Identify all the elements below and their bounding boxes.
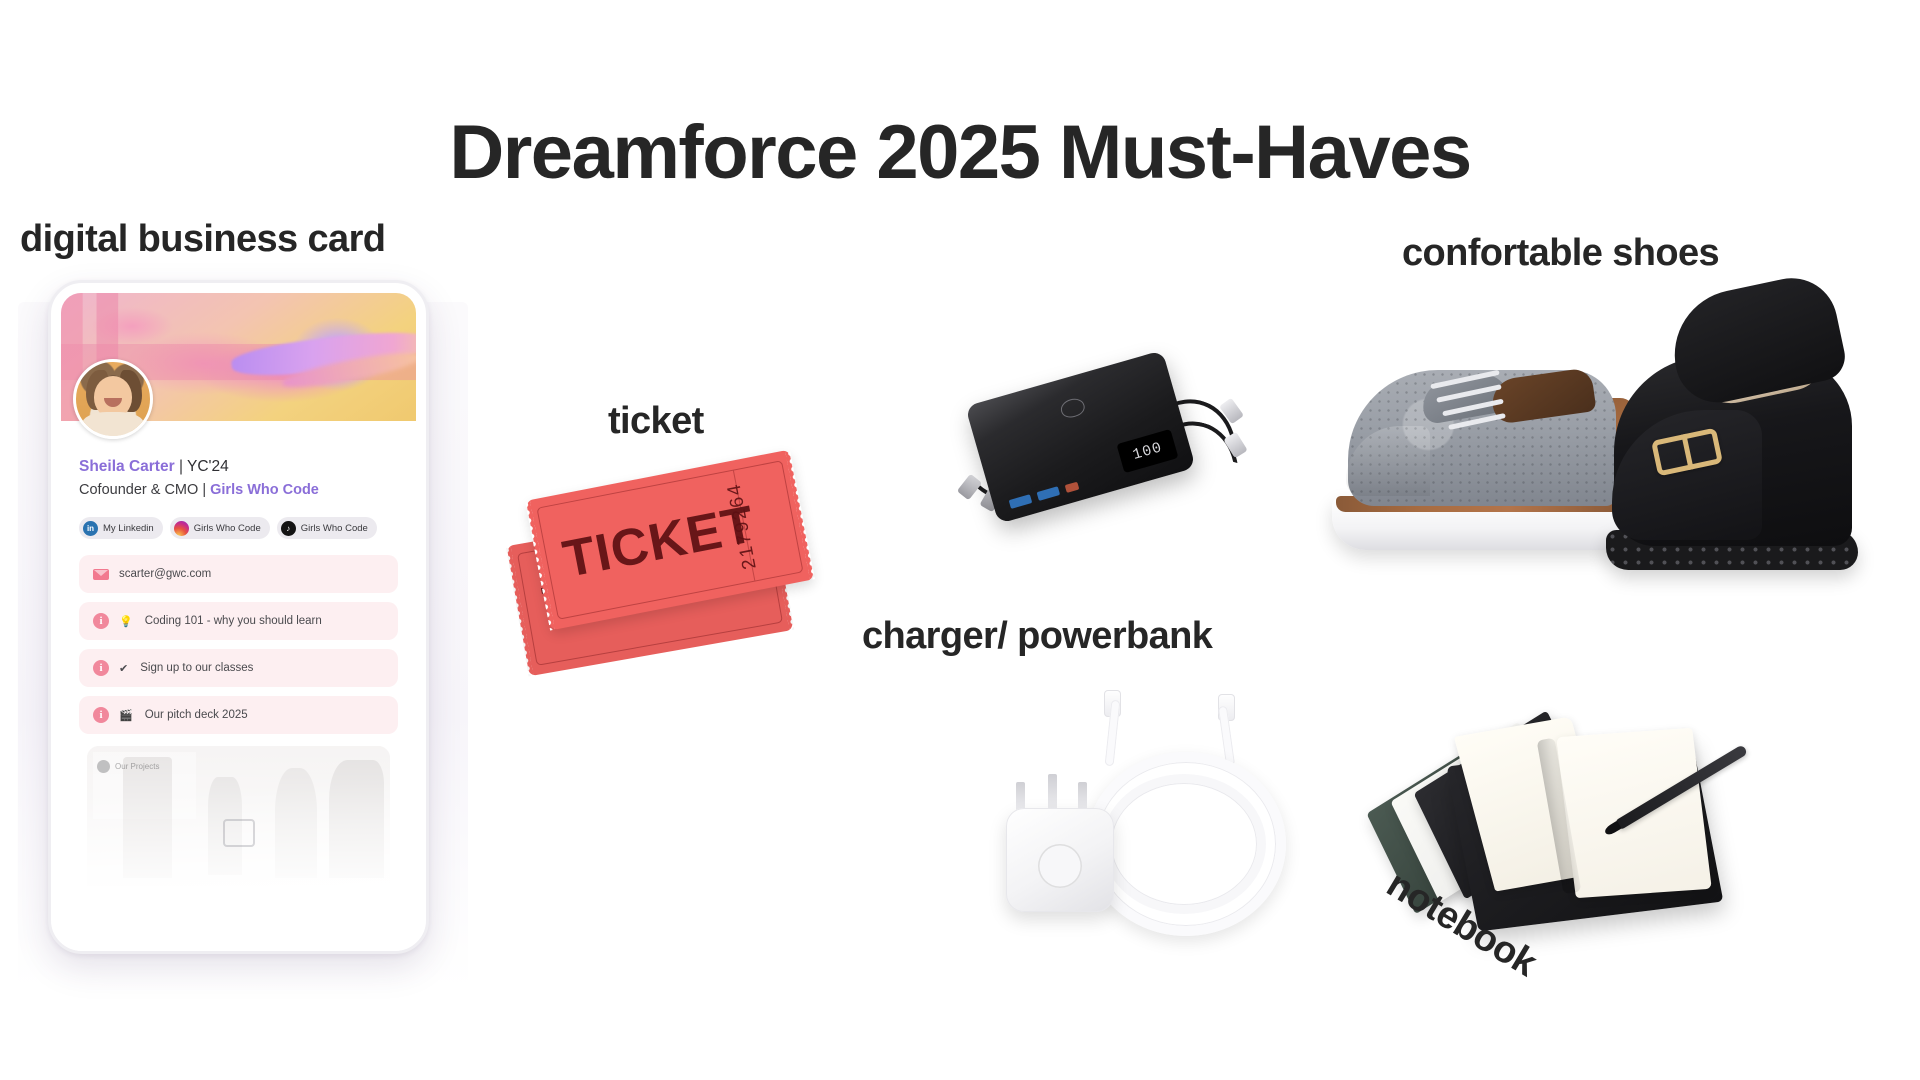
wall-plug-body — [1006, 808, 1114, 912]
powerbank-logo-icon — [1058, 396, 1086, 420]
avatar — [73, 359, 153, 439]
usb-a-port — [1037, 486, 1061, 501]
check-icon: ✔ — [119, 662, 128, 675]
phone-mockup: Sheila Carter | YC'24 Cofounder & CMO | … — [48, 280, 429, 954]
social-chip-label: Girls Who Code — [194, 523, 261, 534]
clapperboard-icon: 🎬 — [119, 709, 133, 722]
social-chip-tiktok[interactable]: ♪ Girls Who Code — [277, 517, 377, 539]
card-role-line: Cofounder & CMO | Girls Who Code — [79, 480, 398, 500]
list-item-label: Coding 101 - why you should learn — [145, 615, 322, 627]
list-item-email[interactable]: scarter@gwc.com — [79, 555, 398, 593]
screen-bottom-fade — [51, 887, 426, 951]
label-comfortable-shoes: confortable shoes — [1402, 232, 1719, 275]
digital-business-card-group: Sheila Carter | YC'24 Cofounder & CMO | … — [18, 280, 468, 1000]
name-separator: | — [179, 458, 183, 475]
card-name-line: Sheila Carter | YC'24 — [79, 457, 398, 477]
card-person-name: Sheila Carter — [79, 458, 175, 475]
powerbank-ports — [1009, 481, 1080, 509]
plug-detail-circle — [1038, 844, 1082, 888]
list-item-signup-classes[interactable]: i ✔ Sign up to our classes — [79, 649, 398, 687]
info-icon: i — [93, 707, 109, 723]
social-chip-instagram[interactable]: Girls Who Code — [170, 517, 270, 539]
lightbulb-icon: 💡 — [119, 615, 133, 628]
social-chip-label: My Linkedin — [103, 523, 154, 534]
sneaker-illustration — [1326, 300, 1638, 568]
photo-badge-icon — [97, 760, 110, 773]
moodboard-canvas: Dreamforce 2025 Must-Haves digital busin… — [0, 0, 1920, 1080]
social-chip-list: in My Linkedin Girls Who Code ♪ Girls Wh… — [79, 517, 398, 539]
label-ticket: ticket — [608, 400, 704, 443]
label-charger-powerbank: charger/ powerbank — [862, 615, 1212, 658]
card-details: Sheila Carter | YC'24 Cofounder & CMO | … — [61, 421, 416, 886]
card-photo-section[interactable]: Our Projects — [87, 746, 390, 886]
card-role: Cofounder & CMO — [79, 482, 198, 498]
list-item-label: scarter@gwc.com — [119, 568, 211, 580]
photo-badge: Our Projects — [97, 760, 159, 773]
cable-loop-inner — [1102, 774, 1266, 914]
powerbank-display: 100 — [1116, 429, 1178, 473]
powerbank-illustration: 100 — [960, 352, 1260, 572]
list-item-label: Our pitch deck 2025 — [145, 709, 248, 721]
list-item-pitch-deck[interactable]: i 🎬 Our pitch deck 2025 — [79, 696, 398, 734]
info-icon: i — [93, 613, 109, 629]
powerbank-body: 100 — [965, 350, 1196, 524]
instagram-icon — [174, 521, 189, 536]
avatar-coat — [82, 412, 144, 439]
page-title: Dreamforce 2025 Must-Haves — [0, 109, 1920, 196]
card-organization: Girls Who Code — [210, 482, 319, 498]
linkedin-icon: in — [83, 521, 98, 536]
image-placeholder-icon — [223, 819, 255, 847]
shoes-group — [1310, 286, 1870, 616]
ticket-group: TICKET TICKET 2179264 — [512, 452, 852, 702]
loafer-illustration — [1602, 286, 1864, 586]
card-batch: YC'24 — [187, 458, 229, 475]
card-link-list: scarter@gwc.com i 💡 Coding 101 - why you… — [79, 555, 398, 734]
list-item-label: Sign up to our classes — [140, 662, 253, 674]
plug-pin — [1048, 774, 1057, 812]
role-separator: | — [202, 482, 206, 498]
social-chip-label: Girls Who Code — [301, 523, 368, 534]
usb-a-port — [1009, 494, 1033, 509]
notebook-group: a-Life — [1370, 690, 1790, 990]
info-icon: i — [93, 660, 109, 676]
usbc-port — [1065, 482, 1080, 493]
social-chip-linkedin[interactable]: in My Linkedin — [79, 517, 163, 539]
envelope-icon — [93, 566, 109, 582]
tiktok-icon: ♪ — [281, 521, 296, 536]
list-item-coding-101[interactable]: i 💡 Coding 101 - why you should learn — [79, 602, 398, 640]
photo-badge-label: Our Projects — [115, 762, 159, 771]
label-digital-business-card: digital business card — [20, 218, 385, 261]
charger-illustration — [990, 690, 1300, 970]
phone-screen: Sheila Carter | YC'24 Cofounder & CMO | … — [51, 283, 426, 951]
powerbank-charge-value: 100 — [1131, 439, 1165, 464]
